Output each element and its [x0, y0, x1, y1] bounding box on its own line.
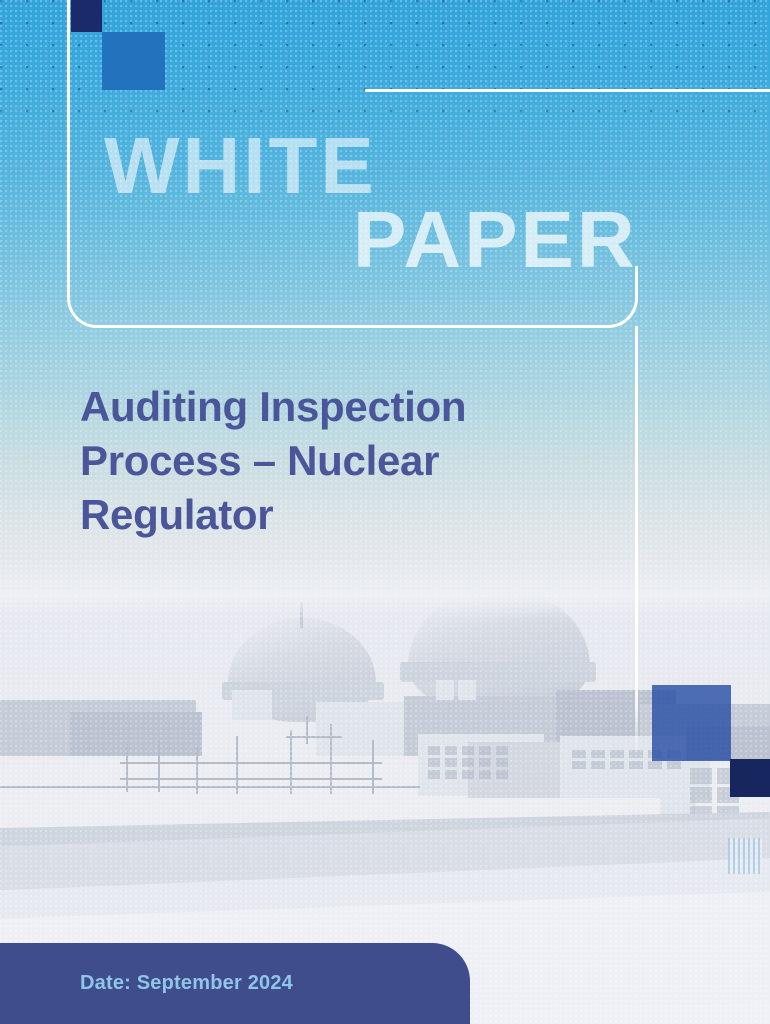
wordmark-line-paper: PAPER	[353, 200, 638, 280]
document-title: Auditing Inspection Process – Nuclear Re…	[80, 380, 600, 541]
square-navy-top-left	[71, 0, 102, 32]
frame-line-right	[635, 326, 638, 758]
square-blue-top-left	[102, 32, 165, 90]
switchyard-conductor	[0, 786, 420, 788]
switchyard-conductor	[120, 762, 382, 764]
switchyard-conductor	[286, 736, 342, 738]
plant-window-block	[436, 680, 454, 700]
switchyard-pylon	[158, 740, 160, 792]
switchyard-pylon	[306, 716, 308, 744]
frame-line-left	[67, 0, 70, 268]
switchyard-pylon	[330, 724, 332, 794]
switchyard-conductor	[120, 778, 382, 780]
wordmark-line-white: WHITE	[104, 126, 377, 206]
square-blue-bottom-right	[652, 685, 731, 761]
plant-building	[232, 690, 272, 720]
white-paper-cover: WHITE PAPER Auditing Inspection Process …	[0, 0, 770, 1024]
plant-building	[70, 712, 202, 756]
date-label: Date: September 2024	[80, 972, 293, 995]
plant-window-block	[458, 680, 476, 700]
square-navy-bottom-right	[730, 759, 770, 797]
switchyard-pylon	[126, 744, 128, 792]
building-windows	[428, 746, 508, 779]
dome-skirt-right	[400, 662, 596, 682]
date-bar: Date: September 2024	[0, 943, 470, 1024]
horizontal-rule-top-right	[365, 89, 770, 92]
striped-marker	[728, 838, 762, 874]
